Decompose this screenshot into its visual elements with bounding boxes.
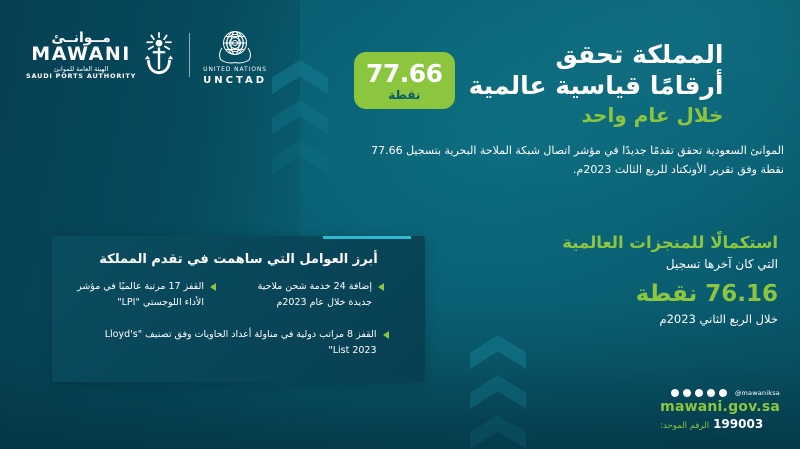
- chevron-decoration-lower: [470, 335, 526, 449]
- hero-line-1: المملكة تحقق: [469, 40, 724, 71]
- infographic-canvas: مــوانــئ MAWANI الهيئة العامة للموانئ S…: [0, 0, 800, 449]
- unctad-logo: UNITED NATIONS UNCTAD: [203, 24, 267, 86]
- stat-heading: استكمالًا للمنجزات العالمية: [478, 232, 778, 253]
- website-link[interactable]: mawani.gov.sa: [660, 399, 780, 415]
- anchor-sun-icon: [142, 31, 176, 79]
- unified-number-value: 199003: [713, 417, 763, 431]
- hero-headline-row: المملكة تحقق أرقامًا قياسية عالمية خلال …: [354, 40, 784, 129]
- card-title: أبرز العوامل التي ساهمت في تقدم المملكة: [52, 236, 425, 267]
- chevron-icon: [470, 375, 526, 409]
- mawani-english-tagline: SAUDI PORTS AUTHORITY: [26, 73, 136, 80]
- facebook-icon[interactable]: [683, 389, 691, 397]
- instagram-icon[interactable]: [695, 389, 703, 397]
- stat-subheading: التي كان آخرها تسجيل: [478, 255, 778, 273]
- unctad-line-1: UNITED NATIONS: [203, 66, 267, 73]
- list-item: القفز 17 مرتبة عالميًا في مؤشر الأداء ال…: [68, 279, 216, 311]
- footer: @mawaniksa mawani.gov.sa 199003 الرقم ال…: [660, 389, 780, 431]
- hero-section: المملكة تحقق أرقامًا قياسية عالمية خلال …: [354, 40, 784, 180]
- list-item: القفز 8 مراتب دولية في مناولة أعداد الحا…: [89, 327, 389, 359]
- stat-value: 76.16 نقطة: [478, 279, 778, 310]
- card-bullet-list: إضافة 24 خدمة شحن ملاحية جديدة خلال عام …: [52, 267, 425, 360]
- chevron-icon: [272, 100, 328, 134]
- score-badge-unit: نقطة: [366, 88, 443, 102]
- chevron-icon: [272, 140, 328, 174]
- bullet-triangle-icon: [378, 283, 384, 291]
- chevron-icon: [470, 335, 526, 369]
- score-badge-value: 77.66: [366, 61, 443, 86]
- twitter-icon[interactable]: [671, 389, 679, 397]
- factors-card: أبرز العوامل التي ساهمت في تقدم المملكة …: [52, 236, 425, 382]
- unified-number: 199003 الرقم الموحد:: [660, 417, 780, 431]
- bullet-triangle-icon: [383, 331, 389, 339]
- social-handle: @mawaniksa: [735, 389, 780, 397]
- hero-line-3: خلال عام واحد: [469, 102, 724, 129]
- hero-paragraph: الموانئ السعودية تحقق تقدمًا جديدًا في م…: [354, 141, 784, 180]
- list-item-text: إضافة 24 خدمة شحن ملاحية جديدة خلال عام …: [234, 279, 372, 311]
- previous-score-section: استكمالًا للمنجزات العالمية التي كان آخر…: [478, 232, 778, 328]
- linkedin-icon[interactable]: [707, 389, 715, 397]
- list-item: إضافة 24 خدمة شحن ملاحية جديدة خلال عام …: [234, 279, 384, 311]
- youtube-icon[interactable]: [719, 389, 727, 397]
- mawani-logo: مــوانــئ MAWANI الهيئة العامة للموانئ S…: [26, 31, 176, 79]
- bullet-triangle-icon: [210, 283, 216, 291]
- united-nations-emblem-icon: [215, 24, 255, 64]
- list-item-text: القفز 8 مراتب دولية في مناولة أعداد الحا…: [89, 327, 377, 359]
- stat-period: خلال الربع الثاني 2023م: [478, 311, 778, 327]
- list-item-text: القفز 17 مرتبة عالميًا في مؤشر الأداء ال…: [68, 279, 204, 311]
- mawani-wordmark: مــوانــئ MAWANI الهيئة العامة للموانئ S…: [26, 31, 136, 79]
- chevron-icon: [470, 415, 526, 449]
- logo-divider: [189, 33, 190, 77]
- social-links[interactable]: @mawaniksa: [660, 389, 780, 397]
- unctad-line-2: UNCTAD: [203, 75, 267, 86]
- hero-line-2: أرقامًا قياسية عالمية: [469, 71, 724, 102]
- chevron-decoration-upper: [272, 60, 328, 190]
- hero-headline: المملكة تحقق أرقامًا قياسية عالمية خلال …: [469, 40, 724, 129]
- unified-number-label: الرقم الموحد:: [660, 421, 709, 431]
- mawani-english-name: MAWANI: [31, 45, 131, 64]
- logo-bar: مــوانــئ MAWANI الهيئة العامة للموانئ S…: [26, 24, 267, 86]
- score-badge: 77.66 نقطة: [354, 52, 455, 109]
- card-bullet-row-top: إضافة 24 خدمة شحن ملاحية جديدة خلال عام …: [68, 279, 409, 311]
- card-bullet-row-bottom: القفز 8 مراتب دولية في مناولة أعداد الحا…: [68, 311, 409, 359]
- card-accent-bar: [323, 236, 411, 239]
- chevron-icon: [272, 60, 328, 94]
